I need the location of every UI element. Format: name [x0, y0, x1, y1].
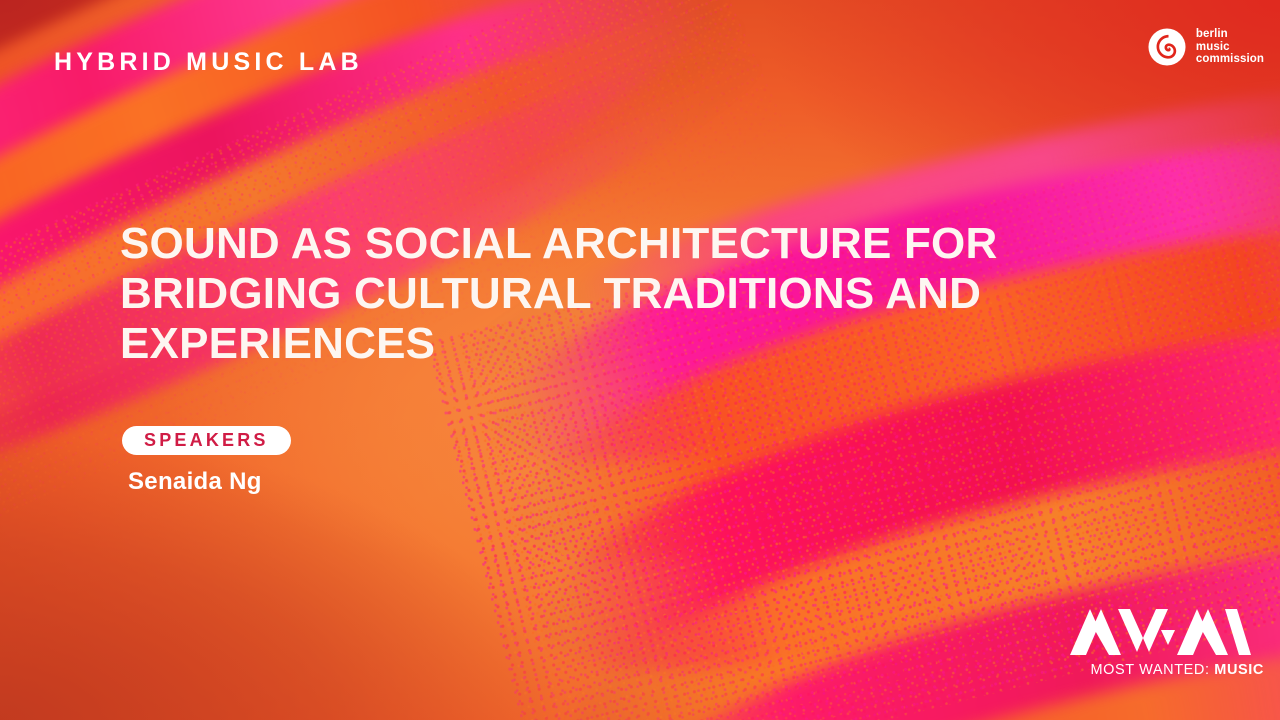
- mwm-tagline: MOST WANTED: MUSIC: [1054, 662, 1264, 678]
- bmc-line-3: commission: [1196, 53, 1264, 66]
- mwm-tagline-light: MOST WANTED:: [1090, 662, 1209, 678]
- berlin-music-commission-logo: berlin music commission: [1148, 28, 1264, 66]
- berlin-music-commission-wordmark: berlin music commission: [1196, 28, 1264, 66]
- slide-content: HYBRID MUSIC LAB SOUND AS SOCIAL ARCHITE…: [0, 0, 1280, 720]
- mwm-tagline-bold: MUSIC: [1214, 662, 1264, 678]
- speaker-name: Senaida Ng: [128, 468, 262, 496]
- event-label: HYBRID MUSIC LAB: [54, 48, 363, 77]
- bmc-line-1: berlin: [1196, 28, 1264, 41]
- bmc-line-2: music: [1196, 41, 1264, 54]
- speakers-badge: SPEAKERS: [122, 426, 291, 455]
- presentation-slide: HYBRID MUSIC LAB SOUND AS SOCIAL ARCHITE…: [0, 0, 1280, 720]
- most-wanted-music-logo: MOST WANTED: MUSIC: [1054, 607, 1264, 678]
- slide-title: SOUND AS SOCIAL ARCHITECTURE FOR BRIDGIN…: [120, 219, 1020, 369]
- mwm-monogram-icon: [1068, 607, 1253, 657]
- berlin-music-commission-spiral-icon: [1148, 28, 1186, 66]
